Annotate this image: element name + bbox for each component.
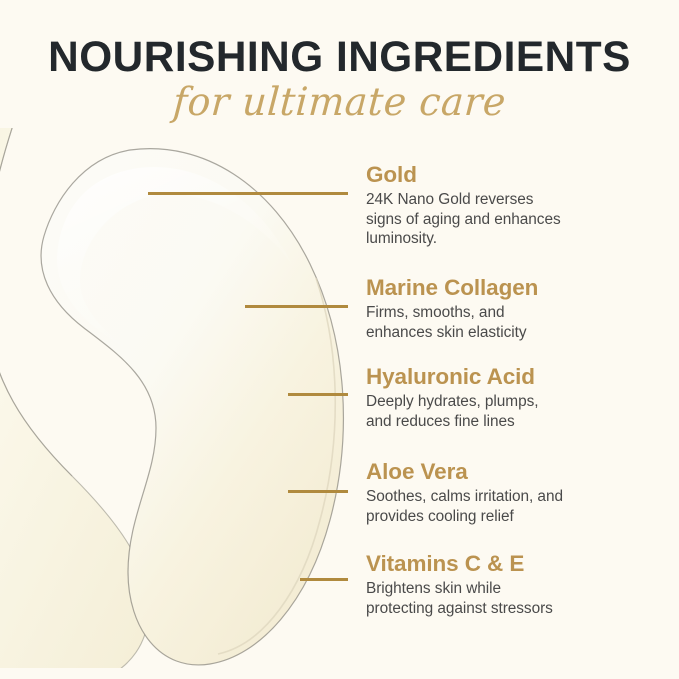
ingredient-description: Soothes, calms irritation, and provides … (366, 487, 666, 526)
leader-line-marine-collagen (245, 305, 348, 308)
hydrogel-eye-patches-graphic (0, 128, 372, 668)
page-title: NOURISHING INGREDIENTS (5, 33, 674, 81)
ingredient-item-gold: Gold 24K Nano Gold reverses signs of agi… (366, 162, 666, 249)
ingredient-item-marine-collagen: Marine Collagen Firms, smooths, and enha… (366, 275, 666, 342)
ingredient-description: Firms, smooths, and enhances skin elasti… (366, 303, 666, 342)
ingredient-description: 24K Nano Gold reverses signs of aging an… (366, 190, 666, 249)
ingredient-item-hyaluronic-acid: Hyaluronic Acid Deeply hydrates, plumps,… (366, 364, 666, 431)
leader-line-vitamins-c-e (300, 578, 348, 581)
ingredient-description: Deeply hydrates, plumps, and reduces fin… (366, 392, 666, 431)
ingredient-description: Brightens skin while protecting against … (366, 579, 666, 618)
ingredient-name: Aloe Vera (366, 459, 666, 485)
ingredients-infographic: NOURISHING INGREDIENTS for ultimate care… (0, 0, 679, 679)
ingredient-name: Hyaluronic Acid (366, 364, 666, 390)
ingredient-name: Vitamins C & E (366, 551, 666, 577)
ingredient-name: Marine Collagen (366, 275, 666, 301)
ingredient-item-vitamins-c-e: Vitamins C & E Brightens skin while prot… (366, 551, 666, 618)
leader-line-gold (148, 192, 348, 195)
ingredient-name: Gold (366, 162, 666, 188)
leader-line-aloe-vera (288, 490, 348, 493)
header: NOURISHING INGREDIENTS for ultimate care (0, 0, 679, 132)
page-subtitle: for ultimate care (9, 80, 671, 126)
leader-line-hyaluronic-acid (288, 393, 348, 396)
ingredient-item-aloe-vera: Aloe Vera Soothes, calms irritation, and… (366, 459, 666, 526)
